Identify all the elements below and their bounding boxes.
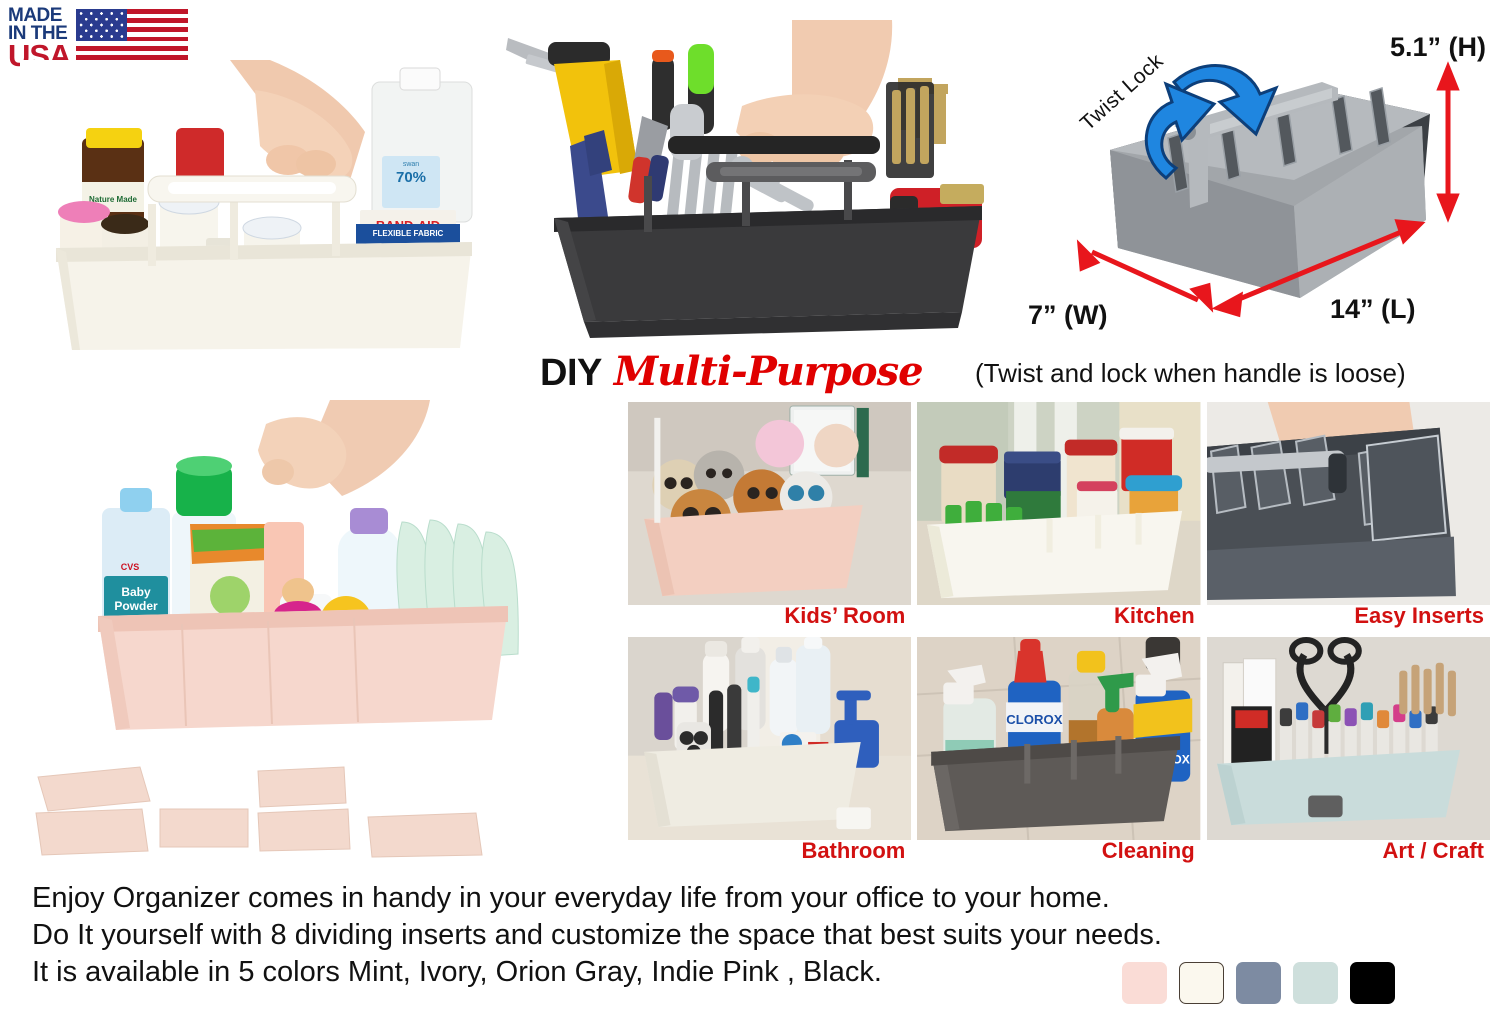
usecase-kids-room-label: Kids’ Room (784, 603, 905, 629)
usecase-bathroom-photo (628, 637, 911, 840)
dimension-width-label: 7” (W) (1028, 300, 1107, 331)
swatch-orion-gray[interactable] (1236, 962, 1281, 1004)
dimension-height-label: 5.1” (H) (1390, 32, 1486, 63)
swatch-indie-pink[interactable] (1122, 962, 1167, 1004)
description-line-3: It is available in 5 colors Mint, Ivory,… (32, 954, 1132, 991)
headline-multi-purpose: Multi-Purpose (614, 348, 923, 395)
svg-text:CLOROX: CLOROX (1007, 712, 1064, 727)
baby-supplies-caddy-photo: Baby Powder CVS (30, 400, 570, 740)
swatch-mint[interactable] (1293, 962, 1338, 1004)
svg-text:CVS: CVS (121, 562, 140, 572)
usecase-kitchen-label: Kitchen (1114, 603, 1195, 629)
twist-lock-note: (Twist and lock when handle is loose) (975, 358, 1406, 389)
svg-text:70%: 70% (396, 169, 426, 186)
usecase-kids-room-photo (628, 402, 911, 605)
usecase-art-craft[interactable]: Art / Craft (1207, 637, 1490, 866)
usecase-art-craft-photo (1207, 637, 1490, 840)
swatch-black[interactable] (1350, 962, 1395, 1004)
headline-diy: DIY (540, 352, 602, 394)
color-swatch-row (1122, 962, 1395, 1004)
svg-text:FLEXIBLE FABRIC: FLEXIBLE FABRIC (373, 229, 444, 238)
description-line-2: Do It yourself with 8 dividing inserts a… (32, 917, 1132, 954)
usecase-art-craft-label: Art / Craft (1383, 838, 1484, 864)
usecase-easy-inserts-photo (1207, 402, 1490, 605)
usecase-easy-inserts[interactable]: Easy Inserts (1207, 402, 1490, 631)
usecase-bathroom-label: Bathroom (801, 838, 905, 864)
usecase-cleaning-photo: CLOROX CLOROX (917, 637, 1200, 840)
usecase-bathroom[interactable]: Bathroom (628, 637, 911, 866)
svg-text:swan: swan (403, 161, 419, 168)
product-description: Enjoy Organizer comes in handy in your e… (32, 880, 1132, 991)
swatch-ivory[interactable] (1179, 962, 1224, 1004)
first-aid-caddy-photo: 70% swan Nature Made BAND-AID FLEXIB (20, 60, 490, 350)
description-line-1: Enjoy Organizer comes in handy in your e… (32, 880, 1132, 917)
usecase-easy-inserts-label: Easy Inserts (1354, 603, 1484, 629)
usecase-kids-room[interactable]: Kids’ Room (628, 402, 911, 631)
infographic-canvas: MADE IN THE USA (0, 0, 1500, 1010)
dimension-length-label: 14” (L) (1330, 294, 1416, 325)
svg-text:Baby: Baby (121, 585, 151, 599)
divider-inserts-photo (20, 755, 520, 865)
tool-caddy-photo (492, 20, 1012, 350)
usecase-cleaning-label: Cleaning (1102, 838, 1195, 864)
headline-diy-multipurpose: DIYMulti-Purpose (540, 348, 923, 395)
usecase-cleaning[interactable]: CLOROX CLOROX (917, 637, 1200, 866)
usecase-grid: Kids’ Room (628, 402, 1490, 866)
svg-text:Powder: Powder (114, 599, 158, 613)
usecase-kitchen-photo (917, 402, 1200, 605)
usecase-kitchen[interactable]: Kitchen (917, 402, 1200, 631)
